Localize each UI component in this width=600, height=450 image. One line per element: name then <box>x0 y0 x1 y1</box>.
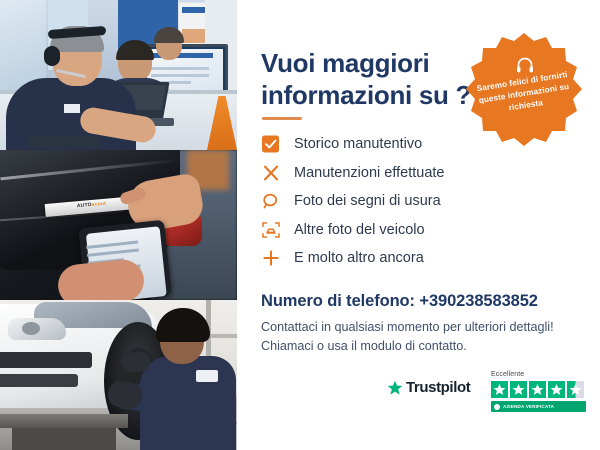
feature-label: Altre foto del veicolo <box>294 220 425 240</box>
feature-item-foto-usura: Foto dei segni di usura <box>261 188 591 217</box>
plus-icon <box>261 248 281 268</box>
vehicle-inspection-photo: AUTOscout <box>0 150 237 300</box>
trustpilot-logo: Trustpilot <box>387 379 470 396</box>
garage-tyre-service-photo <box>0 300 237 450</box>
page-title: Vuoi maggiori informazioni su ? <box>261 48 476 111</box>
contact-line-1: Contattaci in qualsiasi momento per ulte… <box>261 318 591 337</box>
trustpilot-widget[interactable]: Trustpilot Eccellente AZIENDA VERIFICATA <box>387 371 587 417</box>
feature-label: Storico manutentivo <box>294 134 422 154</box>
call-center-agents-photo <box>0 0 237 150</box>
star-4-icon <box>548 381 565 398</box>
star-1-icon <box>491 381 508 398</box>
star-3-icon <box>529 381 546 398</box>
star-5-icon <box>567 381 584 398</box>
contact-line-2: Chiamaci o usa il modulo di contatto. <box>261 337 591 356</box>
feature-item-altre-foto: Altre foto del veicolo <box>261 217 591 246</box>
headset-icon <box>515 56 535 74</box>
feature-label: Manutenzioni effettuate <box>294 163 444 183</box>
content-panel: Vuoi maggiori informazioni su ? Saremo f… <box>237 0 600 450</box>
trustpilot-wordmark: Trustpilot <box>406 379 470 396</box>
verified-check-icon <box>494 404 500 410</box>
feature-label: Foto dei segni di usura <box>294 191 441 211</box>
trustpilot-rating-label: Eccellente <box>491 371 524 378</box>
tools-cross-icon <box>261 163 281 183</box>
magnifier-icon <box>261 191 281 211</box>
title-divider <box>262 117 302 120</box>
photo-car-frame-icon <box>261 220 281 240</box>
checkbox-checked-icon <box>261 134 281 154</box>
verified-company-badge: AZIENDA VERIFICATA <box>491 401 586 412</box>
phone-number[interactable]: Numero di telefono: +390238583852 <box>261 292 538 311</box>
promo-banner: AUTOscout <box>0 0 600 450</box>
photo-column: AUTOscout <box>0 0 237 450</box>
star-2-icon <box>510 381 527 398</box>
contact-description: Contattaci in qualsiasi momento per ulte… <box>261 318 591 356</box>
feature-list: Storico manutentivo Manutenzioni effettu… <box>261 131 591 274</box>
verified-label: AZIENDA VERIFICATA <box>503 404 554 409</box>
trustpilot-stars <box>491 381 584 398</box>
trustpilot-star-icon <box>387 380 403 396</box>
feature-item-storico: Storico manutentivo <box>261 131 591 160</box>
feature-label: E molto altro ancora <box>294 248 424 268</box>
feature-item-altro-ancora: E molto altro ancora <box>261 245 591 274</box>
feature-item-manutenzioni: Manutenzioni effettuate <box>261 160 591 189</box>
